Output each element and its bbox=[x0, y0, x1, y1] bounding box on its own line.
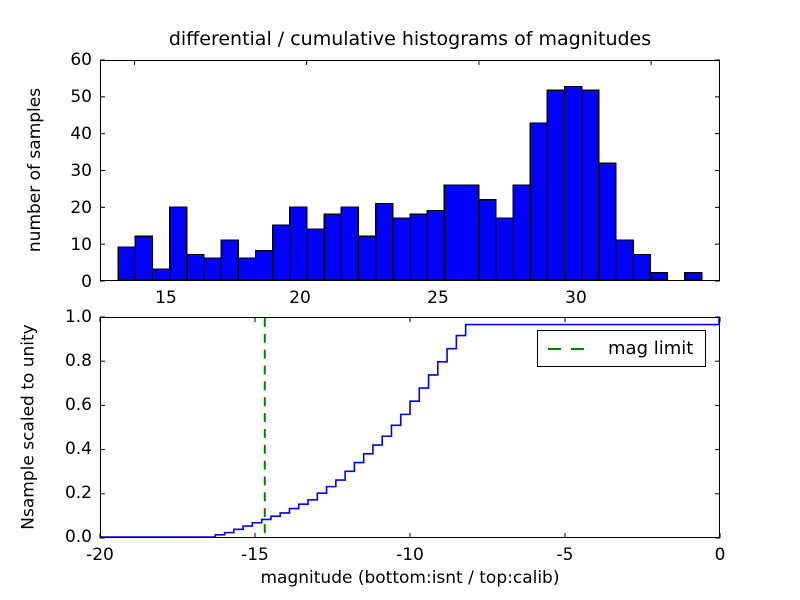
top-ytick-10: 10 bbox=[50, 235, 92, 255]
bottom-ytick-0.4: 0.4 bbox=[40, 439, 92, 459]
top-ytick-20: 20 bbox=[50, 198, 92, 218]
figure-canvas: differential / cumulative histograms of … bbox=[0, 0, 800, 600]
top-xtick-15: 15 bbox=[146, 288, 186, 308]
bottom-xtick--10: -10 bbox=[386, 545, 434, 565]
top-ytick-40: 40 bbox=[50, 124, 92, 144]
x-axis-label: magnitude (bottom:isnt / top:calib) bbox=[100, 568, 720, 588]
top-y-axis-label: number of samples bbox=[25, 88, 45, 252]
top-ytick-50: 50 bbox=[50, 87, 92, 107]
bottom-xtick--15: -15 bbox=[231, 545, 279, 565]
bottom-xtick-0: 0 bbox=[696, 545, 744, 565]
top-xtick-25: 25 bbox=[418, 288, 458, 308]
legend-item-label: mag limit bbox=[608, 338, 693, 359]
bottom-ytick-0.0: 0.0 bbox=[40, 527, 92, 547]
top-ytick-0: 0 bbox=[50, 272, 92, 292]
bottom-ytick-0.6: 0.6 bbox=[40, 395, 92, 415]
bottom-ytick-0.2: 0.2 bbox=[40, 483, 92, 503]
top-xtick-30: 30 bbox=[556, 288, 596, 308]
top-xtick-20: 20 bbox=[280, 288, 320, 308]
top-ytick-30: 30 bbox=[50, 161, 92, 181]
bottom-ytick-0.8: 0.8 bbox=[40, 351, 92, 371]
bottom-ytick-1.0: 1.0 bbox=[40, 307, 92, 327]
mag-limit-line-icon bbox=[548, 348, 590, 350]
bottom-xtick--5: -5 bbox=[541, 545, 589, 565]
top-histogram-axes bbox=[100, 60, 720, 281]
legend[interactable]: mag limit bbox=[537, 330, 706, 367]
bottom-y-axis-label: Nsample scaled to unity bbox=[18, 324, 38, 529]
top-ytick-60: 60 bbox=[50, 50, 92, 70]
top-histogram-plot bbox=[101, 61, 719, 280]
page-title: differential / cumulative histograms of … bbox=[100, 28, 720, 50]
bottom-xtick--20: -20 bbox=[76, 545, 124, 565]
